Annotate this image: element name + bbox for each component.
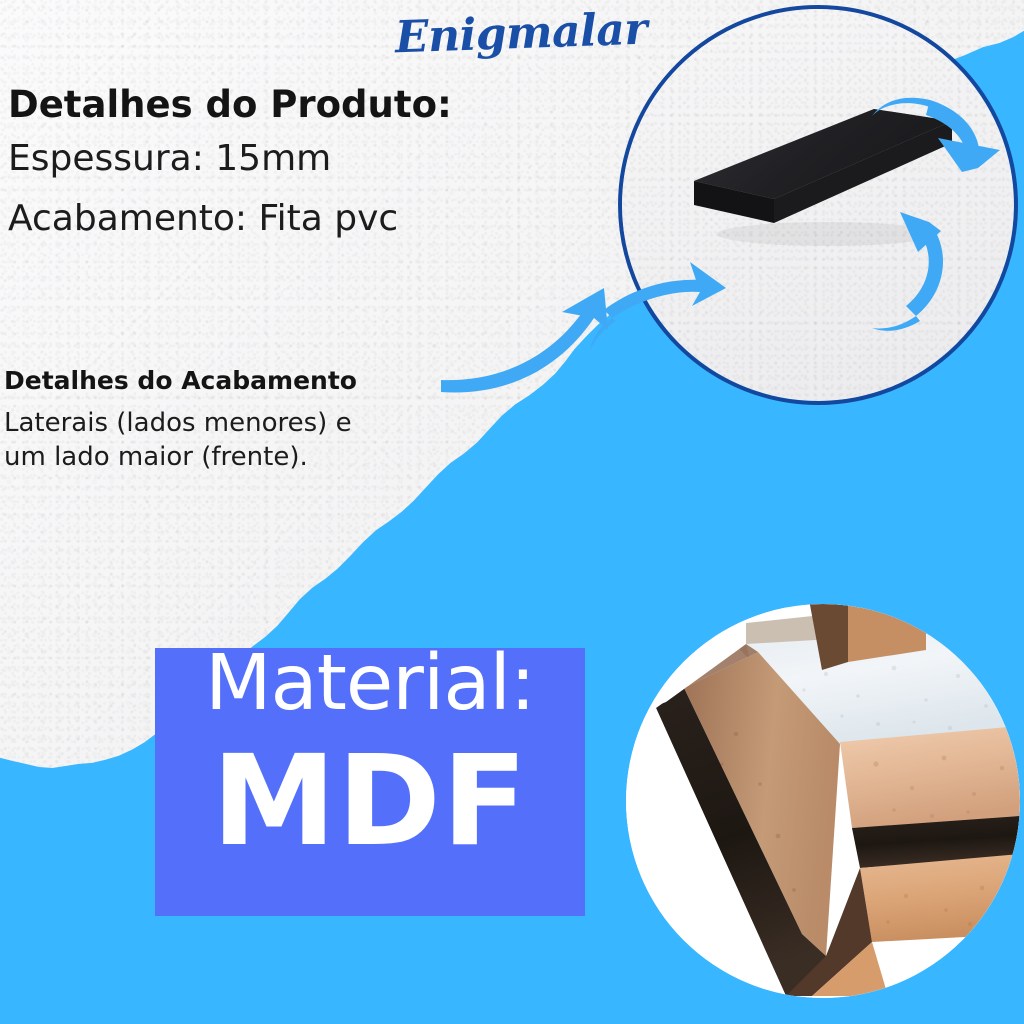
material-label: Material:	[155, 642, 585, 727]
finish-details-block: Detalhes do Acabamento Laterais (lados m…	[4, 366, 357, 475]
mdf-edge-closeup-photo	[626, 604, 1020, 998]
product-detail-thickness: Espessura: 15mm	[8, 133, 452, 184]
material-banner: Material: MDF	[155, 648, 585, 916]
finish-details-heading: Detalhes do Acabamento	[4, 366, 357, 396]
shelf-board-icon	[622, 9, 1014, 401]
finish-details-line-1: Laterais (lados menores) e	[4, 406, 357, 440]
product-detail-finish: Acabamento: Fita pvc	[8, 193, 452, 244]
infographic-canvas: Enigmalar Detalhes do Produto: Espessura…	[0, 0, 1024, 1024]
product-circle-frame	[618, 5, 1018, 405]
brand-logo: Enigmalar	[394, 4, 646, 64]
finish-details-line-2: um lado maior (frente).	[4, 440, 357, 474]
product-details-heading: Detalhes do Produto:	[8, 84, 452, 125]
material-value: MDF	[155, 736, 585, 867]
product-details-block: Detalhes do Produto: Espessura: 15mm Aca…	[8, 84, 452, 244]
